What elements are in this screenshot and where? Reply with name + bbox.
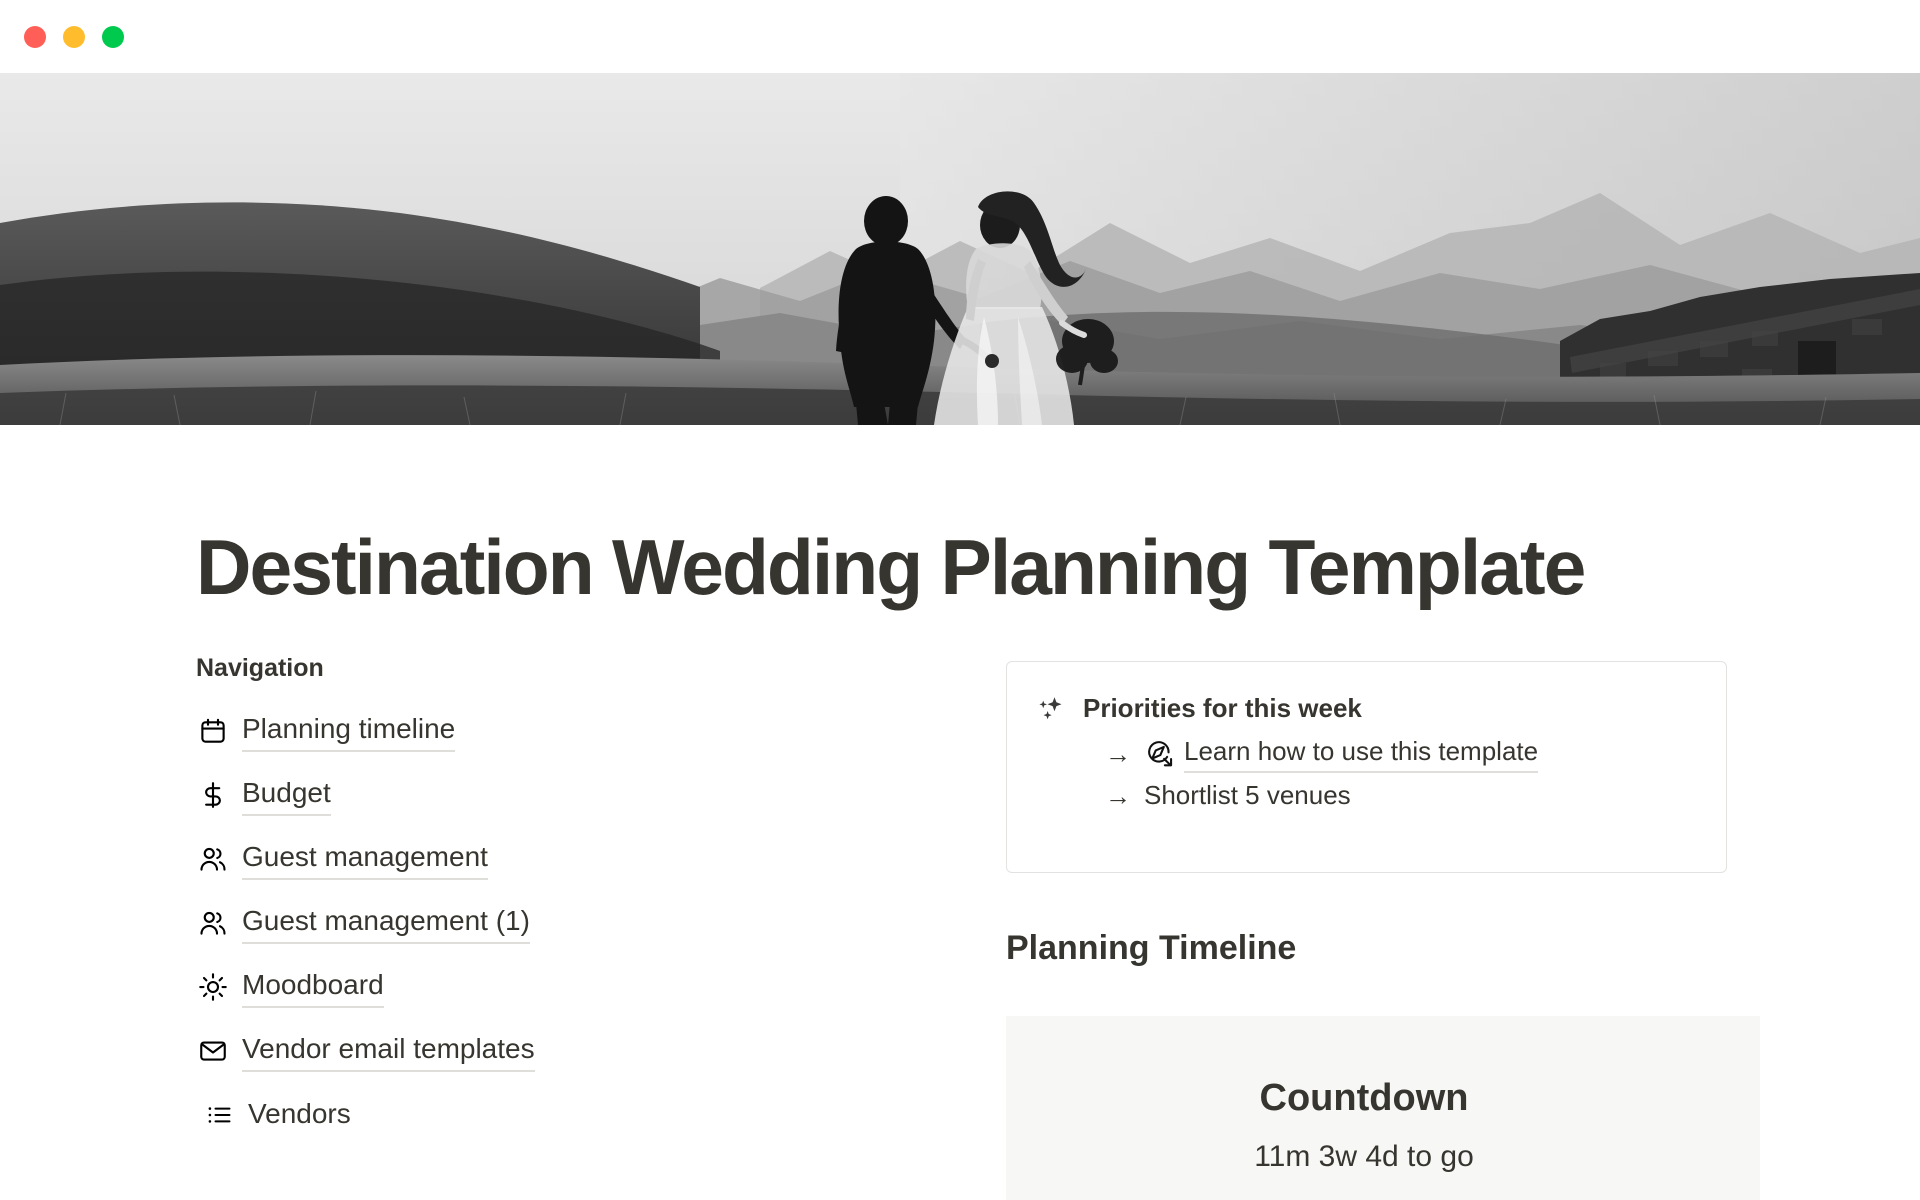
callout-item-label: Shortlist 5 venues xyxy=(1144,779,1351,813)
nav-item-guest-management[interactable]: Guest management xyxy=(196,836,966,882)
mail-icon xyxy=(196,1034,230,1068)
nav-item-label: Planning timeline xyxy=(242,711,455,752)
navigation-heading: Navigation xyxy=(196,653,966,683)
countdown-panel: Countdown 11m 3w 4d to go xyxy=(1006,1016,1760,1200)
countdown-title: Countdown xyxy=(1006,1078,1760,1120)
cover-image xyxy=(0,73,1920,425)
callout-item-label: Learn how to use this template xyxy=(1184,735,1538,774)
nav-item-vendor-email-templates[interactable]: Vendor email templates xyxy=(196,1028,966,1074)
nav-item-label: Vendor email templates xyxy=(242,1031,535,1072)
countdown-value: 11m 3w 4d to go xyxy=(1006,1139,1760,1175)
minimize-button[interactable] xyxy=(63,26,85,48)
close-button[interactable] xyxy=(24,26,46,48)
arrow-right-icon: → xyxy=(1105,741,1131,767)
callout-title: Priorities for this week xyxy=(1083,692,1700,725)
nav-item-label: Guest management xyxy=(242,839,488,880)
arrow-right-icon: → xyxy=(1105,783,1131,809)
nav-item-budget[interactable]: Budget xyxy=(196,772,966,818)
list-icon xyxy=(202,1098,236,1132)
content-columns: Navigation Planning timeline xyxy=(0,653,1920,1200)
nav-item-label: Vendors xyxy=(248,1096,351,1135)
callout-item-shortlist-venues[interactable]: → Shortlist 5 venues xyxy=(1105,779,1700,813)
navigation-column: Navigation Planning timeline xyxy=(196,653,966,1138)
callout-item-learn-template[interactable]: → Learn how to use this template xyxy=(1105,735,1700,774)
users-icon xyxy=(196,906,230,940)
nav-item-label: Moodboard xyxy=(242,967,384,1008)
traffic-light-group xyxy=(24,26,124,48)
nav-item-label: Budget xyxy=(242,775,331,816)
users-icon xyxy=(196,842,230,876)
window-titlebar xyxy=(0,0,1920,73)
nav-item-planning-timeline[interactable]: Planning timeline xyxy=(196,708,966,754)
page-content: Destination Wedding Planning Template Na… xyxy=(0,425,1920,1200)
compass-external-link-icon xyxy=(1144,738,1176,770)
nav-item-vendors[interactable]: Vendors xyxy=(196,1092,966,1138)
calendar-icon xyxy=(196,714,230,748)
planning-timeline-heading: Planning Timeline xyxy=(1006,928,1296,969)
priorities-callout: Priorities for this week → xyxy=(1006,661,1727,873)
sparkles-icon xyxy=(1033,692,1069,724)
page-title: Destination Wedding Planning Template xyxy=(196,528,1584,606)
maximize-button[interactable] xyxy=(102,26,124,48)
nav-item-moodboard[interactable]: Moodboard xyxy=(196,964,966,1010)
sun-icon xyxy=(196,970,230,1004)
nav-item-label: Guest management (1) xyxy=(242,903,530,944)
nav-item-guest-management-1[interactable]: Guest management (1) xyxy=(196,900,966,946)
dollar-icon xyxy=(196,778,230,812)
